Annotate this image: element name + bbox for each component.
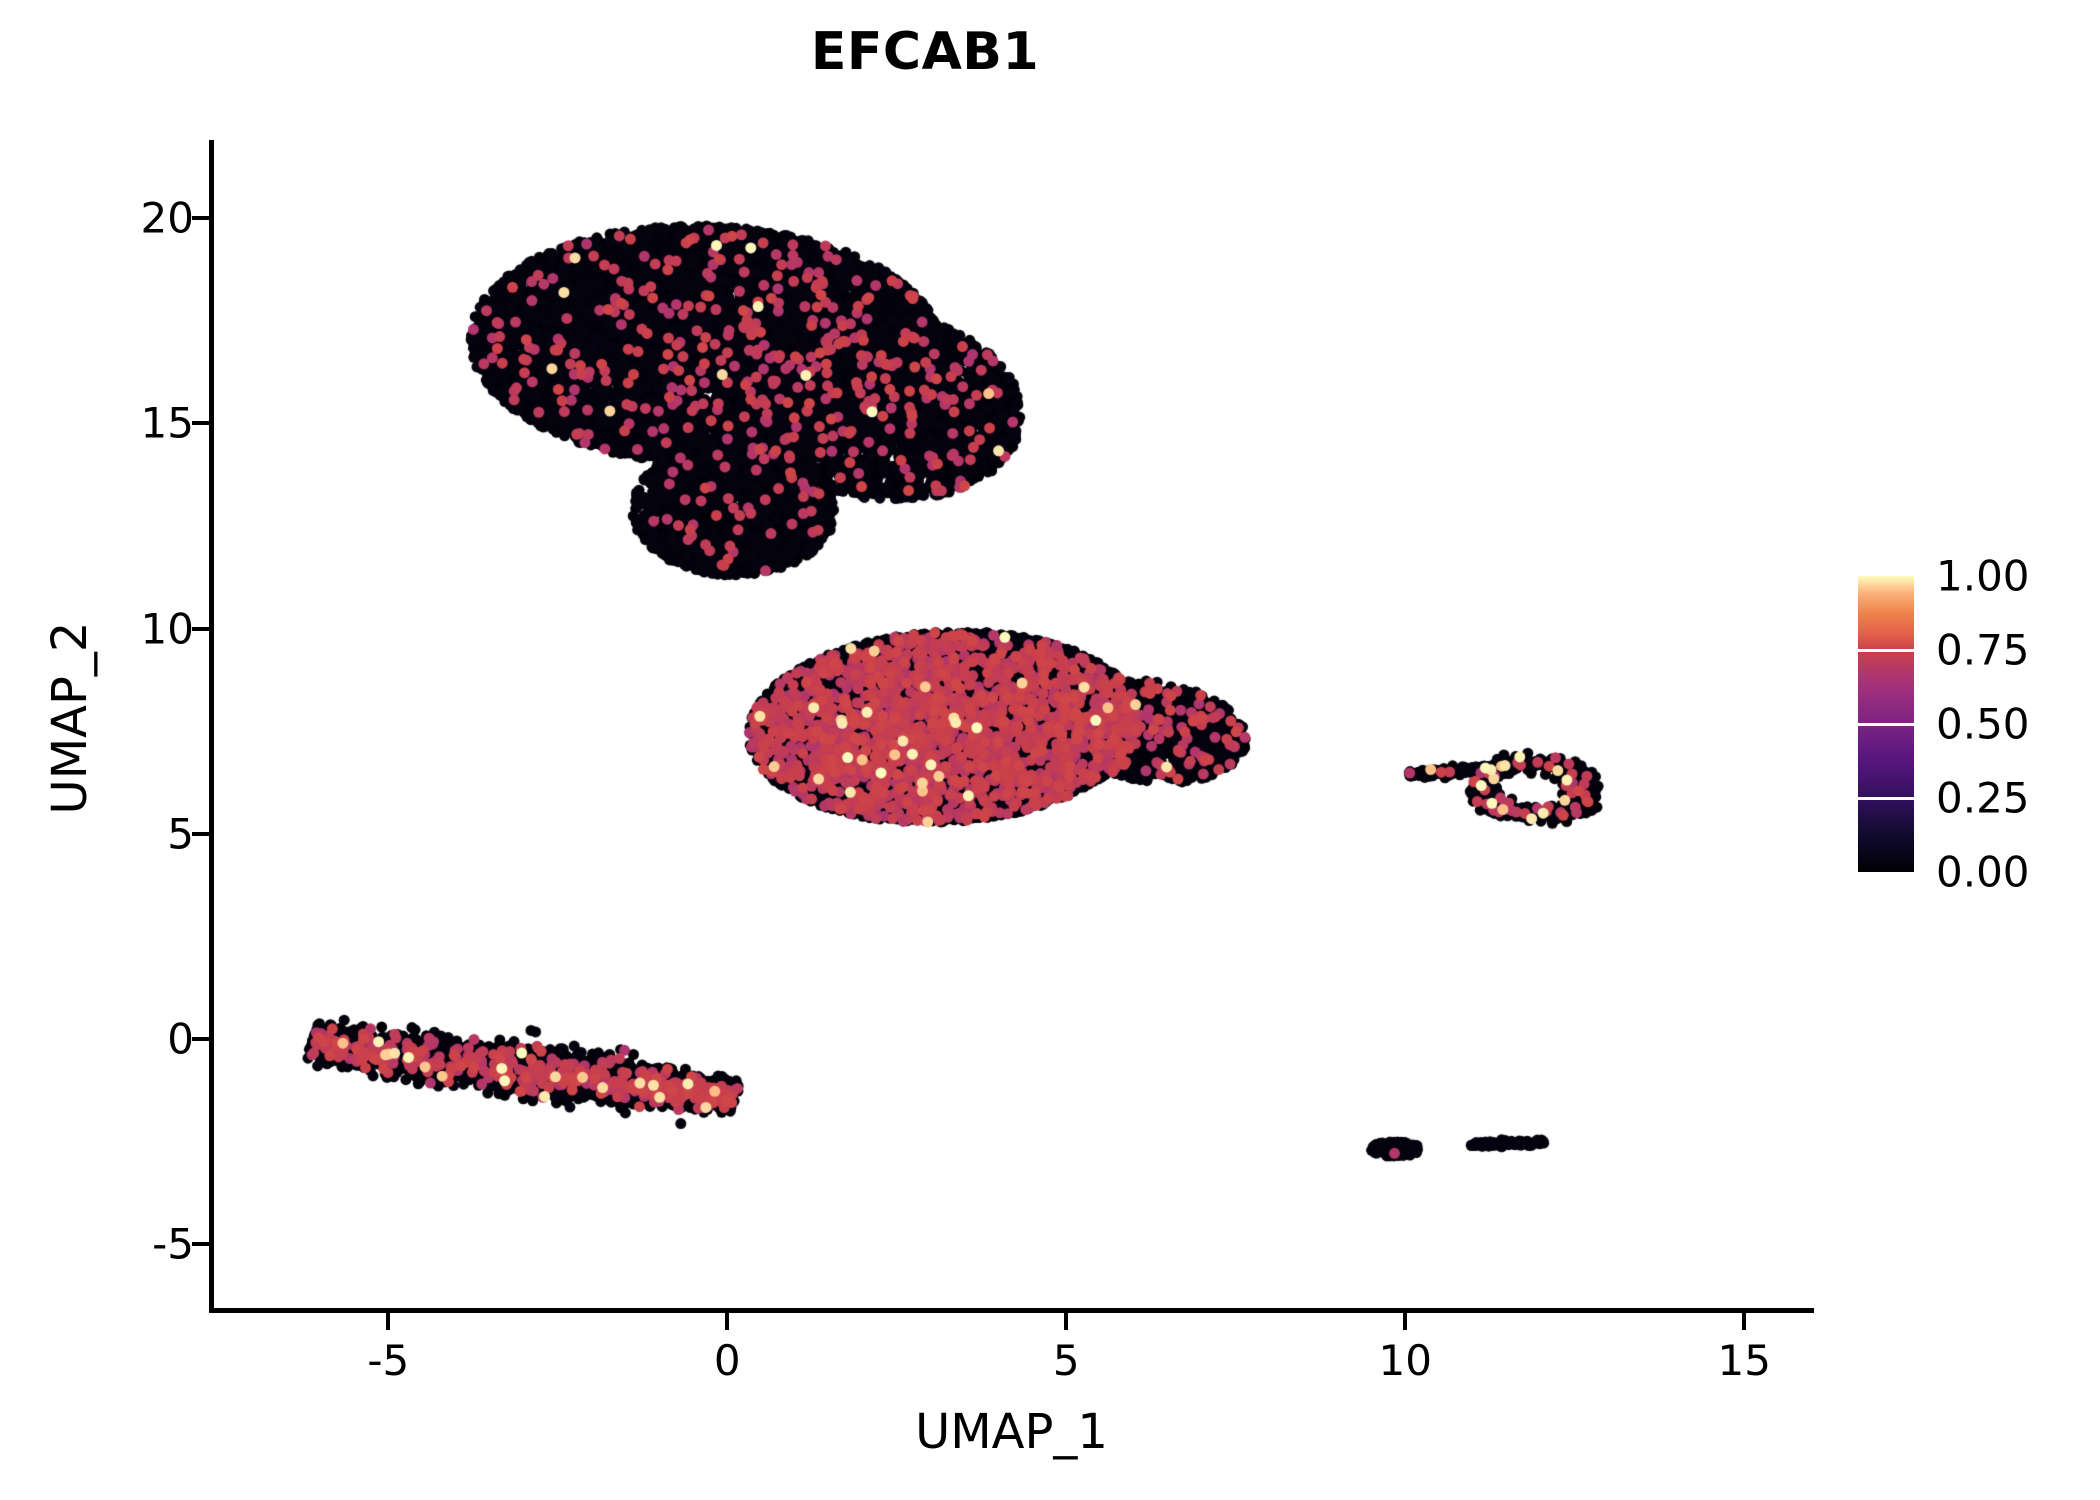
x-tick-label: 5 [1053,1336,1080,1385]
page-title: EFCAB1 [0,22,1850,82]
y-tick-label: 0 [167,1015,194,1064]
umap-feature-plot-figure: EFCAB1 -5051015 -505101520 UMAP_1 UMAP_2… [0,0,2100,1500]
x-tick-label: 15 [1717,1336,1770,1385]
y-tick-mark [192,1242,209,1246]
x-axis-spine [209,1308,1814,1313]
colorbar-tick-label: 0.00 [1936,848,2030,897]
y-tick-label: 20 [141,194,194,243]
y-tick-label: 10 [141,604,194,653]
colorbar-tick-label: 0.75 [1936,626,2030,675]
y-tick-mark [192,627,209,631]
scatter-points-canvas [212,140,1812,1310]
y-tick-mark [192,216,209,220]
colorbar-tick-label: 0.25 [1936,774,2030,823]
y-axis-label: UMAP_2 [42,338,98,1098]
colorbar-tick-mark [1858,649,1914,652]
y-tick-label: 5 [167,809,194,858]
y-tick-label: -5 [152,1220,194,1269]
x-tick-mark [386,1313,390,1330]
x-tick-label: 10 [1378,1336,1431,1385]
colorbar-tick-label: 1.00 [1936,552,2030,601]
x-tick-mark [725,1313,729,1330]
y-tick-mark [192,832,209,836]
colorbar-tick-mark [1858,797,1914,800]
colorbar-tick-mark [1858,723,1914,726]
x-tick-label: -5 [367,1336,409,1385]
y-axis-spine [209,140,214,1312]
colorbar-tick-label: 0.50 [1936,700,2030,749]
x-tick-mark [1403,1313,1407,1330]
plot-axes-area [212,140,1812,1310]
y-tick-mark [192,421,209,425]
y-tick-mark [192,1037,209,1041]
x-tick-label: 0 [714,1336,741,1385]
y-tick-label: 15 [141,399,194,448]
x-axis-label: UMAP_1 [209,1404,1814,1460]
x-tick-mark [1064,1313,1068,1330]
x-tick-mark [1742,1313,1746,1330]
